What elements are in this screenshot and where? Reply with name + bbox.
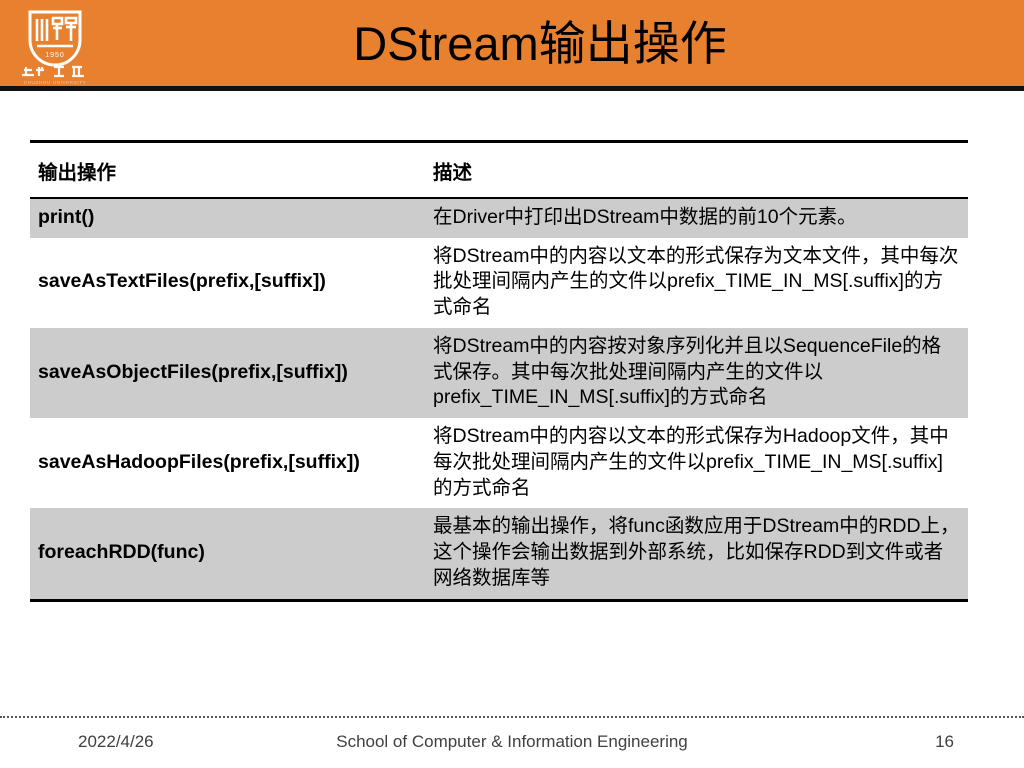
svg-text:CHUZHOU UNIVERSITY: CHUZHOU UNIVERSITY <box>24 80 87 85</box>
table-row: saveAsTextFiles(prefix,[suffix]) 将DStrea… <box>30 238 968 328</box>
footer-page-number: 16 <box>935 732 954 752</box>
column-header-description: 描述 <box>425 142 968 199</box>
university-emblem-icon: 1950 CHUZHOU UNIVERSITY <box>14 6 96 86</box>
cell-operation: foreachRDD(func) <box>30 508 425 600</box>
header-divider <box>0 86 1024 91</box>
slide-footer: 2022/4/26 School of Computer & Informati… <box>0 726 1024 760</box>
cell-operation: saveAsObjectFiles(prefix,[suffix]) <box>30 328 425 418</box>
footer-divider <box>0 716 1024 718</box>
cell-operation: saveAsHadoopFiles(prefix,[suffix]) <box>30 418 425 508</box>
output-operations-table-container: 输出操作 描述 print() 在Driver中打印出DStream中数据的前1… <box>30 140 968 602</box>
cell-operation: print() <box>30 198 425 238</box>
university-logo: 1950 CHUZHOU UNIVERSITY <box>14 6 96 86</box>
cell-operation: saveAsTextFiles(prefix,[suffix]) <box>30 238 425 328</box>
table-row: foreachRDD(func) 最基本的输出操作，将func函数应用于DStr… <box>30 508 968 600</box>
table-row: print() 在Driver中打印出DStream中数据的前10个元素。 <box>30 198 968 238</box>
page-title: DStream输出操作 <box>110 4 970 84</box>
table-header-row: 输出操作 描述 <box>30 142 968 199</box>
svg-text:1950: 1950 <box>45 52 65 59</box>
cell-description: 将DStream中的内容按对象序列化并且以SequenceFile的格式保存。其… <box>425 328 968 418</box>
cell-description: 将DStream中的内容以文本的形式保存为Hadoop文件，其中每次批处理间隔内… <box>425 418 968 508</box>
table-row: saveAsHadoopFiles(prefix,[suffix]) 将DStr… <box>30 418 968 508</box>
cell-description: 在Driver中打印出DStream中数据的前10个元素。 <box>425 198 968 238</box>
footer-organization: School of Computer & Information Enginee… <box>0 732 1024 752</box>
cell-description: 最基本的输出操作，将func函数应用于DStream中的RDD上，这个操作会输出… <box>425 508 968 600</box>
slide-header-banner: 1950 CHUZHOU UNIVERSITY DStream输出操作 <box>0 0 1024 86</box>
output-operations-table: 输出操作 描述 print() 在Driver中打印出DStream中数据的前1… <box>30 140 968 602</box>
table-row: saveAsObjectFiles(prefix,[suffix]) 将DStr… <box>30 328 968 418</box>
column-header-operation: 输出操作 <box>30 142 425 199</box>
cell-description: 将DStream中的内容以文本的形式保存为文本文件，其中每次批处理间隔内产生的文… <box>425 238 968 328</box>
